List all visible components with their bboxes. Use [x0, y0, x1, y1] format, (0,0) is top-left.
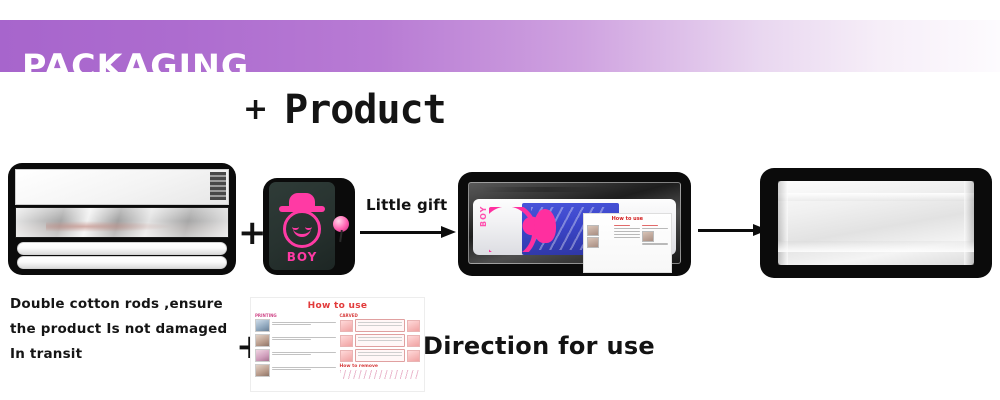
step-text	[272, 334, 336, 342]
step-text	[272, 319, 336, 327]
text-line	[272, 352, 336, 353]
text-line	[272, 322, 336, 323]
sheet-step	[255, 334, 336, 347]
smiley-face-icon	[283, 210, 321, 248]
sheet-columns: PRINTING	[255, 313, 420, 379]
arrow-head	[441, 226, 456, 238]
leaflet-thumb	[642, 231, 654, 242]
text-line	[272, 354, 311, 355]
flow-icon	[407, 335, 420, 347]
flow-step-box	[355, 334, 406, 347]
step-text	[272, 364, 336, 372]
leaflet-line	[642, 228, 668, 229]
sheet-remove-subhead: How to remove	[340, 364, 421, 369]
text-line	[272, 339, 311, 340]
step-thumbnail	[255, 364, 270, 377]
arrow-shaft	[698, 229, 756, 232]
leaflet-thumb	[587, 237, 599, 248]
packaging-infographic: PACKAGING + Product Double cotton rods ,…	[0, 0, 1000, 400]
sheet-flow-diagram	[340, 319, 421, 362]
product-side-label: BOY	[479, 206, 488, 227]
flow-line	[358, 355, 403, 356]
white-mailer-photo	[760, 168, 992, 278]
instruction-leaflet: How to use	[583, 213, 672, 273]
gift-card-label: BOY	[269, 250, 335, 264]
cotton-rod-lower	[17, 256, 227, 269]
box-caption: Double cotton rods ,ensure the product I…	[10, 292, 250, 367]
header-band: PACKAGING	[0, 20, 1000, 72]
leaflet-column-right	[642, 223, 668, 250]
mailer-fold-left	[778, 181, 788, 265]
cotton-rod-upper	[17, 242, 227, 255]
product-headline: + Product	[243, 90, 446, 130]
flow-line	[358, 352, 403, 353]
sheet-column-right: CARVED	[340, 313, 421, 379]
flow-icon	[340, 320, 353, 332]
photo-frame	[8, 163, 236, 275]
transparent-bag: BOY How to use	[468, 182, 681, 264]
sheet-subhead-left: PRINTING	[255, 313, 336, 318]
text-line	[272, 369, 311, 370]
leaflet-line	[642, 243, 668, 244]
plus-icon: +	[243, 95, 268, 125]
sheet-step	[255, 364, 336, 377]
leaflet-title: How to use	[587, 216, 668, 222]
gift-card: BOY	[269, 182, 335, 270]
step-thumbnail	[255, 349, 270, 362]
box-contents	[15, 169, 229, 269]
photo-frame: BOY	[263, 178, 355, 275]
flow-step-box	[355, 319, 406, 332]
box-caption-line-1: Double cotton rods ,ensure	[10, 292, 250, 317]
sheet-title: How to use	[255, 301, 420, 312]
box-transparent-window	[15, 207, 229, 238]
flow-line	[358, 325, 403, 326]
box-caption-line-3: In transit	[10, 342, 250, 367]
flow-icon	[407, 350, 420, 362]
leaflet-thumb	[587, 225, 599, 236]
box-logo	[210, 172, 226, 200]
leaflet-line	[614, 234, 640, 235]
arrow-shaft	[360, 231, 444, 234]
little-gift-label: Little gift	[366, 196, 447, 214]
flow-row	[340, 319, 421, 332]
photo-frame	[760, 168, 992, 278]
step-thumbnail	[255, 334, 270, 347]
arrow-right-icon-mailer	[698, 224, 768, 236]
sheet-column-left: PRINTING	[255, 313, 336, 379]
bag-seal-edge	[482, 187, 613, 192]
product-pink-blob	[534, 209, 556, 243]
sheet-step	[255, 349, 336, 362]
leaflet-line	[614, 225, 629, 226]
photo-frame: BOY How to use	[458, 172, 691, 276]
arrow-right-icon-gift	[360, 226, 456, 238]
flow-line	[358, 337, 403, 338]
box-lid	[15, 169, 229, 205]
leaflet-line	[614, 228, 640, 229]
mailer-fold-right	[964, 181, 974, 265]
leaflet-line	[642, 225, 657, 226]
text-line	[272, 324, 311, 325]
text-line	[272, 337, 336, 338]
box-caption-line-2: the product Is not damaged	[10, 317, 250, 342]
sheet-scribble-graphic	[340, 370, 421, 379]
flow-icon	[340, 350, 353, 362]
white-mailer-bag	[778, 181, 974, 265]
sheet-step	[255, 319, 336, 332]
direction-for-use-label: Direction for use	[423, 332, 655, 360]
flow-row	[340, 334, 421, 347]
leaflet-column-left	[587, 223, 613, 250]
leaflet-line	[614, 237, 640, 238]
flow-icon	[340, 335, 353, 347]
packaged-product-photo: BOY How to use	[458, 172, 691, 276]
flow-step-box	[355, 349, 406, 362]
smile-mouth-icon	[293, 225, 311, 237]
instruction-sheet: How to use PRINTING	[250, 297, 425, 392]
rolled-product: BOY How to use	[473, 199, 676, 255]
step-text	[272, 349, 336, 357]
product-title: Product	[284, 90, 446, 130]
gift-bead	[333, 216, 349, 232]
packaging-box-photo	[8, 163, 236, 275]
flow-line	[358, 340, 403, 341]
text-line	[272, 367, 336, 368]
flow-row	[340, 349, 421, 362]
flow-line	[358, 322, 403, 323]
page-title: PACKAGING	[22, 47, 249, 85]
flow-icon	[407, 320, 420, 332]
leaflet-columns	[587, 223, 668, 250]
instruction-sheet-photo: How to use PRINTING	[250, 297, 425, 392]
leaflet-line	[614, 231, 640, 232]
gift-card-photo: BOY	[263, 178, 355, 275]
sheet-subhead-right: CARVED	[340, 313, 421, 318]
step-thumbnail	[255, 319, 270, 332]
leaflet-column-mid	[614, 223, 640, 250]
